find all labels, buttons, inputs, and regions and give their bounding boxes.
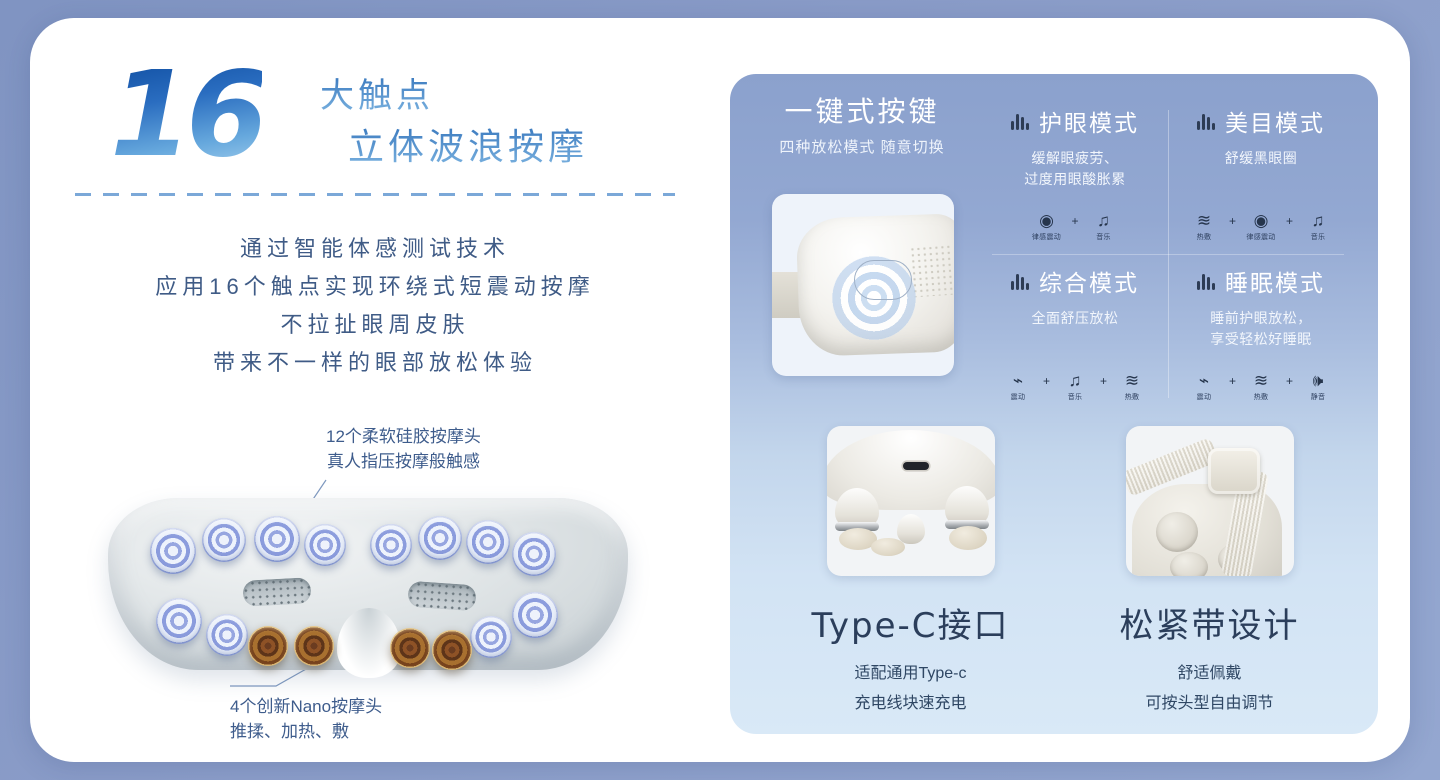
icon-label: 音乐: [1311, 232, 1326, 242]
mode-card-comprehensive[interactable]: 综合模式 全面舒压放松 ⌁ 震动 + ♫ 音乐 +: [982, 254, 1168, 414]
nano-massage-head: [390, 628, 430, 668]
mode-description: 缓解眼疲劳、 过度用眼酸胀累: [988, 148, 1162, 190]
silicone-massage-head: [254, 516, 300, 562]
icon-label: 热敷: [1125, 392, 1140, 402]
silicone-massage-head: [512, 592, 558, 638]
heat-icon: ≋ 热敷: [1111, 371, 1153, 402]
music-glyph: ♫: [1069, 371, 1082, 390]
callout-line: 12个柔软硅胶按摩头: [326, 424, 481, 449]
mute-icon: 🕪 静音: [1297, 371, 1339, 402]
headline-line-1: 大触点: [320, 68, 434, 117]
wave-bars-icon: [1197, 272, 1215, 290]
power-button[interactable]: [854, 260, 912, 300]
onekey-title: 一键式按键: [754, 92, 970, 132]
silicone-massage-head: [466, 520, 510, 564]
mode-title: 护眼模式: [1039, 104, 1139, 138]
icon-label: 律感震动: [1246, 232, 1275, 242]
massage-nub-center: [897, 514, 925, 544]
eye-massager-device-photo: [772, 194, 954, 376]
vibration-icon: ◉ 律感震动: [1025, 211, 1067, 242]
massage-pad: [949, 526, 987, 550]
mode-feature-icons: ⌁ 震动 + ♫ 音乐 + ≋ 热敷: [982, 371, 1168, 402]
heat-glyph: ≋: [1197, 211, 1211, 230]
lead-line: 应用16个触点实现环绕式短震动按摩: [30, 268, 720, 306]
lead-line: 不拉扯眼周皮肤: [30, 306, 720, 344]
mode-title: 美目模式: [1225, 104, 1325, 138]
mode-desc-line: 享受轻松好睡眠: [1174, 329, 1348, 350]
mode-card-beauty-eye[interactable]: 美目模式 舒缓黑眼圈 ≋ 热敷 + ◉ 律感震动 +: [1168, 94, 1354, 254]
callout-line: 推揉、加热、敷: [230, 719, 382, 744]
heat-glyph: ≋: [1125, 371, 1139, 390]
mode-feature-icons: ⌁ 震动 + ≋ 热敷 + 🕪 静音: [1168, 371, 1354, 402]
left-panel: 16 大触点 立体波浪按摩 通过智能体感测试技术 应用16个触点实现环绕式短震动…: [30, 18, 720, 762]
eye-massager-interior-photo: [108, 480, 628, 680]
music-glyph: ♫: [1097, 211, 1110, 230]
mode-header: 美目模式: [1174, 104, 1348, 138]
lead-line: 通过智能体感测试技术: [30, 230, 720, 268]
mode-card-eye-care[interactable]: 护眼模式 缓解眼疲劳、 过度用眼酸胀累 ◉ 律感震动 + ♫ 音乐: [982, 94, 1168, 254]
icon-label: 热敷: [1254, 392, 1269, 402]
mode-description: 全面舒压放松: [988, 308, 1162, 329]
feature-desc-line: 适配通用Type-c: [790, 659, 1031, 689]
silicone-massage-head: [512, 532, 556, 576]
nano-massage-head: [248, 626, 288, 666]
icon-label: 音乐: [1068, 392, 1083, 402]
mode-desc-line: 缓解眼疲劳、: [988, 148, 1162, 169]
massage-pad: [871, 538, 905, 556]
feature-description: 适配通用Type-c 充电线块速充电: [790, 659, 1031, 719]
modes-grid: 护眼模式 缓解眼疲劳、 过度用眼酸胀累 ◉ 律感震动 + ♫ 音乐: [982, 94, 1354, 414]
type-c-port-photo: [827, 426, 995, 576]
vibration-glyph: ◉: [1039, 211, 1054, 230]
callout-line: 4个创新Nano按摩头: [230, 694, 382, 719]
wave-bars-icon: [1011, 272, 1029, 290]
plus-sign: +: [1229, 374, 1236, 402]
air-vent-left: [242, 577, 311, 607]
mode-header: 睡眠模式: [1174, 264, 1348, 298]
massage-dot: [1156, 512, 1198, 552]
vibration-glyph: ◉: [1254, 211, 1269, 230]
plus-sign: +: [1100, 374, 1107, 402]
icon-label: 震动: [1197, 392, 1212, 402]
silicone-massage-head: [202, 518, 246, 562]
mode-header: 综合模式: [988, 264, 1162, 298]
plus-sign: +: [1286, 374, 1293, 402]
wave-bars-icon: [1011, 112, 1029, 130]
callout-silicone-heads: 12个柔软硅胶按摩头 真人指压按摩般触感: [326, 424, 481, 474]
silicone-massage-head: [156, 598, 202, 644]
mode-title: 综合模式: [1039, 264, 1139, 298]
mute-glyph: 🕪: [1313, 371, 1324, 390]
strap-buckle: [1208, 448, 1260, 494]
feature-elastic-strap: 松紧带设计 舒适佩戴 可按头型自由调节: [1089, 426, 1330, 719]
music-icon: ♫ 音乐: [1054, 371, 1096, 402]
mode-feature-icons: ◉ 律感震动 + ♫ 音乐: [982, 211, 1168, 242]
icon-label: 热敷: [1197, 232, 1212, 242]
headline-block: 16 大触点 立体波浪按摩: [110, 54, 670, 184]
mode-description: 睡前护眼放松， 享受轻松好睡眠: [1174, 308, 1348, 350]
silicone-massage-head: [470, 616, 512, 658]
massage-dot: [1170, 552, 1208, 576]
device-vent-mesh: [910, 245, 954, 298]
heat-icon: ≋ 热敷: [1183, 211, 1225, 242]
nano-massage-head: [432, 630, 472, 670]
silicone-massage-head: [370, 524, 412, 566]
plus-sign: +: [1043, 374, 1050, 402]
plus-sign: +: [1229, 214, 1236, 242]
feature-type-c: Type-C接口 适配通用Type-c 充电线块速充电: [790, 426, 1031, 719]
vibration-glyph: ⌁: [1199, 371, 1209, 390]
silicone-massage-head: [206, 614, 248, 656]
mode-title: 睡眠模式: [1225, 264, 1325, 298]
infographic-card: 16 大触点 立体波浪按摩 通过智能体感测试技术 应用16个触点实现环绕式短震动…: [30, 18, 1410, 762]
dashed-divider: [75, 193, 675, 196]
plus-sign: +: [1286, 214, 1293, 242]
silicone-massage-head: [150, 528, 196, 574]
vibration-glyph: ⌁: [1013, 371, 1023, 390]
vibration-icon: ⌁ 震动: [997, 371, 1039, 402]
heat-glyph: ≋: [1254, 371, 1268, 390]
elastic-strap-photo: [1126, 426, 1294, 576]
callout-nano-heads: 4个创新Nano按摩头 推揉、加热、敷: [230, 694, 382, 744]
icon-label: 震动: [1011, 392, 1026, 402]
music-icon: ♫ 音乐: [1297, 211, 1339, 242]
icon-label: 音乐: [1096, 232, 1111, 242]
headline-line-2: 立体波浪按摩: [348, 118, 588, 170]
features-row: Type-C接口 适配通用Type-c 充电线块速充电 松紧带设计: [790, 426, 1330, 716]
vibration-icon: ⌁ 震动: [1183, 371, 1225, 402]
lead-paragraph: 通过智能体感测试技术 应用16个触点实现环绕式短震动按摩 不拉扯眼周皮肤 带来不…: [30, 230, 720, 382]
mode-description: 舒缓黑眼圈: [1174, 148, 1348, 169]
mode-desc-line: 过度用眼酸胀累: [988, 169, 1162, 190]
mode-header: 护眼模式: [988, 104, 1162, 138]
onekey-block: 一键式按键 四种放松模式 随意切换: [754, 92, 970, 157]
mode-desc-line: 睡前护眼放松，: [1174, 308, 1348, 329]
music-icon: ♫ 音乐: [1083, 211, 1125, 242]
feature-description: 舒适佩戴 可按头型自由调节: [1089, 659, 1330, 719]
plus-sign: +: [1071, 214, 1078, 242]
feature-title: Type-C接口: [790, 598, 1031, 647]
mode-desc-line: 全面舒压放松: [988, 308, 1162, 329]
feature-title: 松紧带设计: [1089, 598, 1330, 647]
lead-line: 带来不一样的眼部放松体验: [30, 344, 720, 382]
silicone-massage-head: [418, 516, 462, 560]
air-vent-right: [407, 581, 477, 612]
onekey-subtitle: 四种放松模式 随意切换: [754, 136, 970, 157]
mode-desc-line: 舒缓黑眼圈: [1174, 148, 1348, 169]
music-glyph: ♫: [1312, 211, 1325, 230]
wave-bars-icon: [1197, 112, 1215, 130]
mode-feature-icons: ≋ 热敷 + ◉ 律感震动 + ♫ 音乐: [1168, 211, 1354, 242]
right-panel: 一键式按键 四种放松模式 随意切换 护眼模式 缓解眼疲劳、 过度用眼酸: [730, 74, 1378, 734]
icon-label: 静音: [1311, 392, 1326, 402]
feature-desc-line: 充电线块速充电: [790, 689, 1031, 719]
feature-desc-line: 可按头型自由调节: [1089, 689, 1330, 719]
type-c-port-icon: [903, 462, 929, 470]
silicone-massage-head: [304, 524, 346, 566]
nano-massage-head: [294, 626, 334, 666]
callout-line: 真人指压按摩般触感: [326, 449, 481, 474]
icon-label: 律感震动: [1032, 232, 1061, 242]
vibration-icon: ◉ 律感震动: [1240, 211, 1282, 242]
headline-number: 16: [110, 54, 262, 174]
mode-card-sleep[interactable]: 睡眠模式 睡前护眼放松， 享受轻松好睡眠 ⌁ 震动 + ≋ 热敷: [1168, 254, 1354, 414]
feature-desc-line: 舒适佩戴: [1089, 659, 1330, 689]
heat-icon: ≋ 热敷: [1240, 371, 1282, 402]
